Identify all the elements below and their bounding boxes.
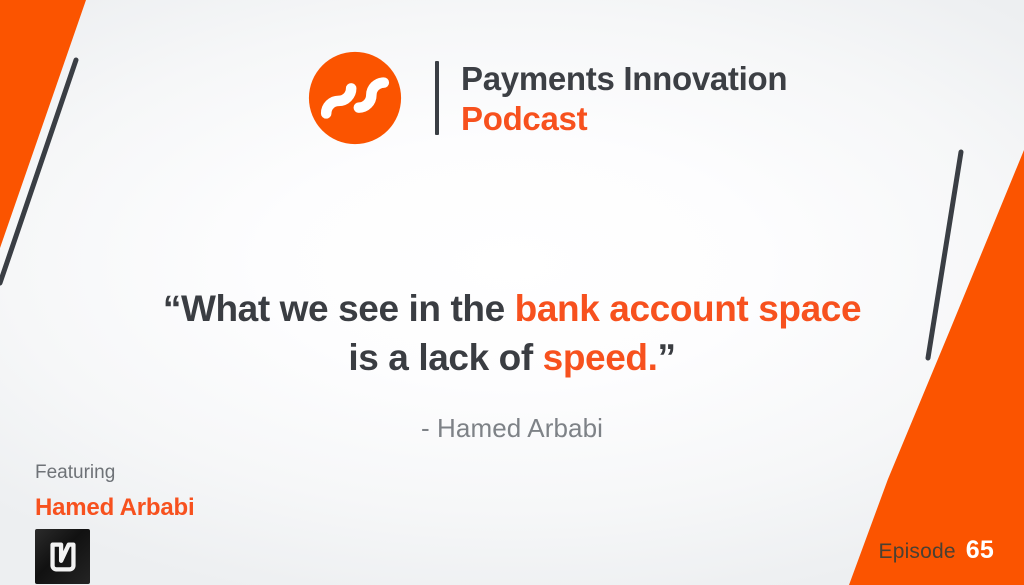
quote-attribution: - Hamed Arbabi bbox=[150, 413, 874, 444]
episode-badge: Episode 65 bbox=[878, 536, 994, 565]
featuring-block: Featuring Hamed Arbabi bbox=[35, 462, 194, 584]
brand-title: Payments Innovation Podcast bbox=[461, 62, 787, 135]
brand-title-line1: Payments Innovation bbox=[461, 62, 787, 95]
quote-segment-4: . bbox=[648, 337, 658, 378]
v-checkmark-logo-icon bbox=[44, 538, 82, 576]
top-left-orange-wedge bbox=[0, 0, 86, 248]
episode-label: Episode bbox=[878, 540, 955, 564]
quote-text: “What we see in the bank account space i… bbox=[150, 285, 874, 383]
top-left-accent-line bbox=[0, 60, 76, 283]
episode-number: 65 bbox=[966, 536, 994, 565]
quote-segment-2: is a lack of bbox=[348, 337, 542, 378]
featuring-label: Featuring bbox=[35, 462, 194, 485]
quote-open-mark: “ bbox=[163, 288, 181, 329]
vertical-divider bbox=[435, 61, 439, 135]
quote-segment-0: What we see in the bbox=[181, 288, 515, 329]
brand-title-line2: Podcast bbox=[461, 102, 787, 135]
guest-company-logo bbox=[35, 529, 90, 584]
quote-segment-1: bank account space bbox=[515, 288, 862, 329]
quote-block: “What we see in the bank account space i… bbox=[0, 285, 1024, 444]
wave-circle-logo-icon bbox=[307, 50, 403, 146]
featuring-guest-name: Hamed Arbabi bbox=[35, 494, 194, 522]
brand-logo-lockup: Payments Innovation Podcast bbox=[307, 50, 787, 146]
podcast-quote-slide: Payments Innovation Podcast “What we see… bbox=[0, 0, 1024, 585]
quote-close-mark: ” bbox=[658, 337, 676, 378]
quote-segment-3: speed bbox=[543, 337, 648, 378]
